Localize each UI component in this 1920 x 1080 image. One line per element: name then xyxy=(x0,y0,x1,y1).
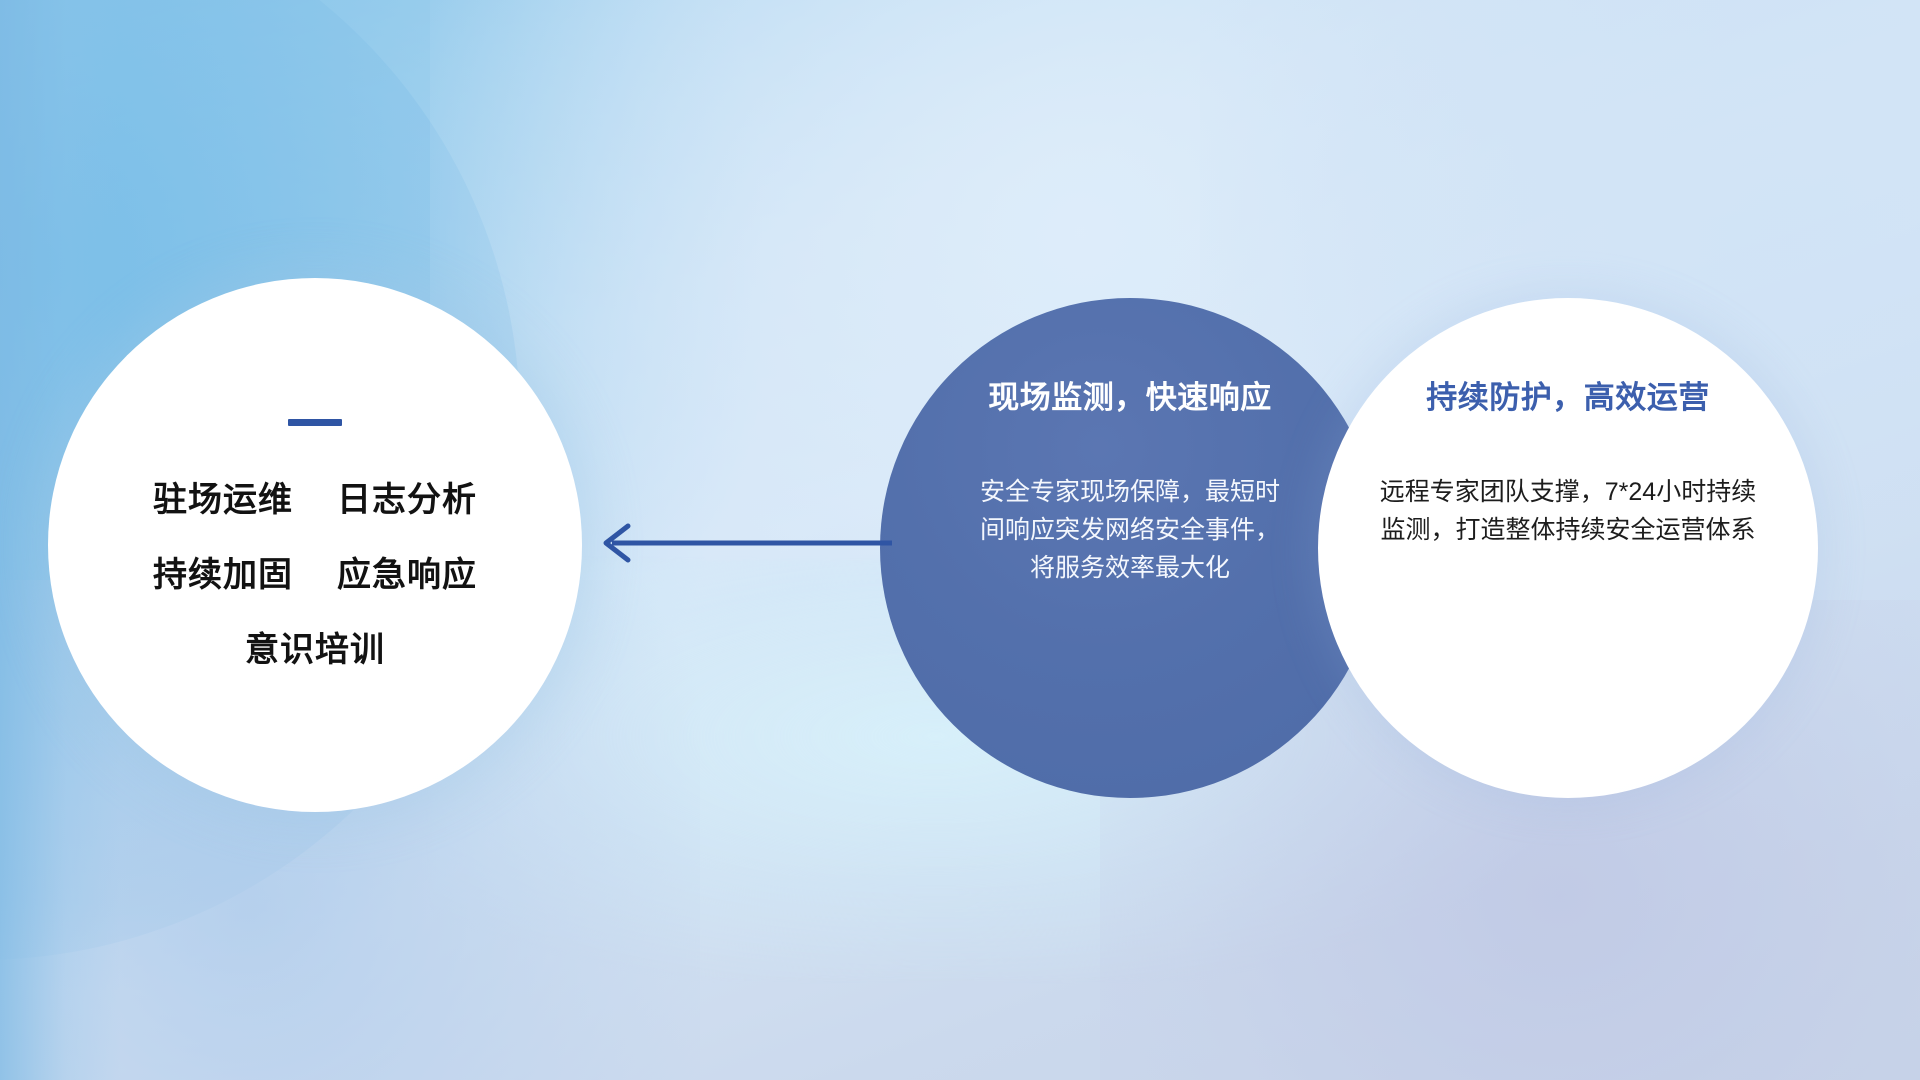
onsite-monitoring-title: 现场监测，快速响应 xyxy=(988,372,1272,417)
continuous-protection-title: 持续防护，高效运营 xyxy=(1426,372,1710,417)
service-capability-content: 驻场运维 日志分析 持续加固 应急响应 意识培训 xyxy=(48,278,582,812)
service-capability-circle[interactable]: 驻场运维 日志分析 持续加固 应急响应 意识培训 xyxy=(48,278,582,812)
continuous-protection-body: 远程专家团队支撑，7*24小时持续监测，打造整体持续安全运营体系 xyxy=(1370,473,1766,549)
capability-row: 驻场运维 日志分析 xyxy=(153,472,477,521)
capability-tag: 应急响应 xyxy=(337,547,477,596)
onsite-monitoring-body: 安全专家现场保障，最短时间响应突发网络安全事件，将服务效率最大化 xyxy=(977,473,1283,587)
diagram-stage: 驻场运维 日志分析 持续加固 应急响应 意识培训 现场监测，快速响应 安全专家现… xyxy=(0,0,1920,1080)
capability-tag: 驻场运维 xyxy=(153,472,293,521)
continuous-protection-content: 持续防护，高效运营 远程专家团队支撑，7*24小时持续监测，打造整体持续安全运营… xyxy=(1318,298,1818,798)
capability-tag: 日志分析 xyxy=(337,472,477,521)
capability-tag: 意识培训 xyxy=(245,622,385,671)
arrow-left-icon xyxy=(586,512,896,574)
continuous-protection-circle[interactable]: 持续防护，高效运营 远程专家团队支撑，7*24小时持续监测，打造整体持续安全运营… xyxy=(1318,298,1818,798)
onsite-monitoring-content: 现场监测，快速响应 安全专家现场保障，最短时间响应突发网络安全事件，将服务效率最… xyxy=(880,298,1380,798)
capability-list: 驻场运维 日志分析 持续加固 应急响应 意识培训 xyxy=(153,472,477,671)
capability-row: 持续加固 应急响应 xyxy=(153,547,477,596)
capability-row: 意识培训 xyxy=(245,622,385,671)
onsite-monitoring-circle[interactable]: 现场监测，快速响应 安全专家现场保障，最短时间响应突发网络安全事件，将服务效率最… xyxy=(880,298,1380,798)
capability-tag: 持续加固 xyxy=(153,547,293,596)
horizontal-dash-icon xyxy=(288,419,342,426)
